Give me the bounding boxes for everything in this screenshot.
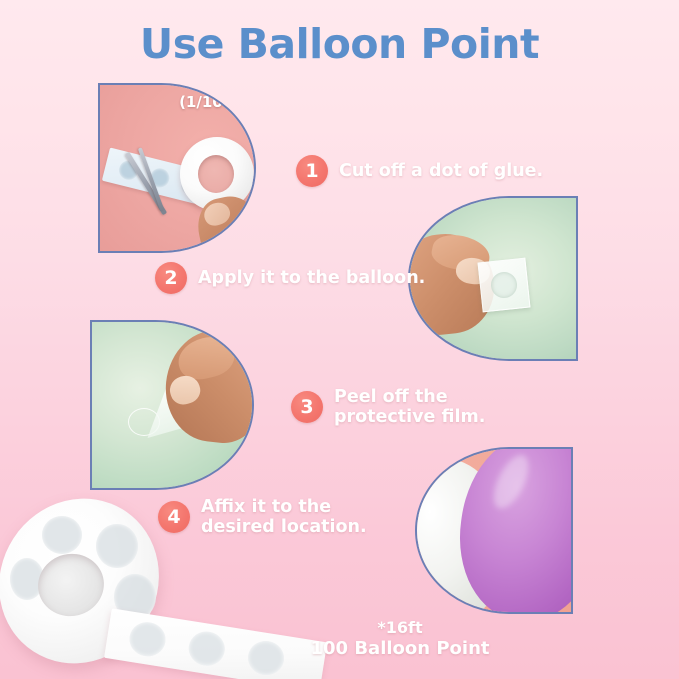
- balloon-point-instruction-poster: Use Balloon Point (1/100) 1 Cut off a do…: [0, 0, 679, 679]
- apply-to-balloon-photo: [408, 196, 578, 361]
- tape-roll-hole: [198, 155, 234, 193]
- step-1-text: Cut off a dot of glue.: [339, 161, 543, 181]
- product-caption: *16ft 100 Balloon Point: [250, 617, 550, 659]
- caption-length: *16ft: [250, 617, 550, 638]
- peel-film-photo: [90, 320, 254, 490]
- step-3-badge: 3: [291, 391, 323, 423]
- step-1: 1 Cut off a dot of glue.: [296, 155, 543, 187]
- step-2: 2 Apply it to the balloon.: [155, 262, 425, 294]
- roll-dot: [42, 516, 82, 554]
- tail-dot: [186, 629, 227, 668]
- step-3: 3 Peel off the protective film.: [291, 387, 485, 427]
- glue-point-square: [478, 258, 531, 313]
- caption-quantity: 100 Balloon Point: [250, 638, 550, 659]
- tail-dot: [127, 620, 168, 659]
- cut-glue-dot-photo: (1/100): [98, 83, 256, 253]
- quantity-tag: (1/100): [179, 93, 240, 111]
- step-2-badge: 2: [155, 262, 187, 294]
- step-2-text: Apply it to the balloon.: [198, 268, 425, 288]
- roll-dot: [96, 524, 138, 568]
- affix-balloons-photo: [415, 447, 573, 614]
- step-1-badge: 1: [296, 155, 328, 187]
- page-title: Use Balloon Point: [0, 20, 679, 68]
- step-3-text: Peel off the protective film.: [334, 387, 485, 427]
